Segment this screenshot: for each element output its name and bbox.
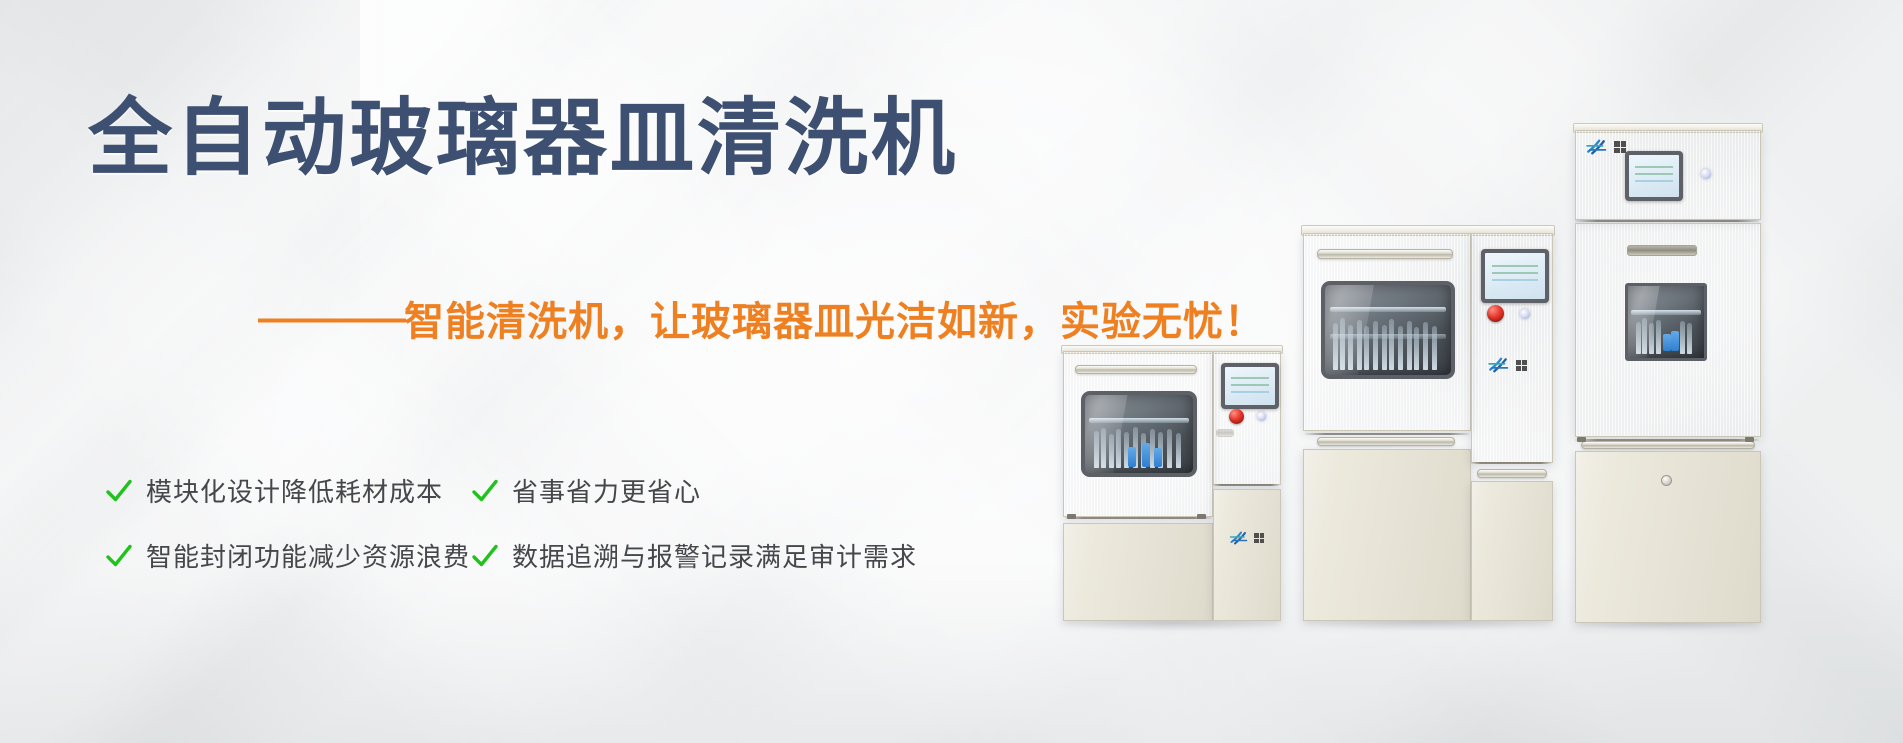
glassware-load	[1325, 285, 1451, 375]
chamber-lower-handle	[1317, 437, 1455, 446]
feature-item: 数据追溯与报警记录满足审计需求	[470, 537, 917, 574]
chamber-viewing-window	[1321, 281, 1455, 379]
check-icon	[104, 541, 134, 571]
door-latch	[1067, 514, 1076, 519]
check-icon	[470, 476, 500, 506]
product-images	[1043, 0, 1903, 743]
check-icon	[470, 541, 500, 571]
feature-label: 省事省力更省心	[512, 472, 701, 509]
brand-grid-icon	[1614, 141, 1626, 153]
glassware-load	[1085, 395, 1193, 473]
product-undercounter-glassware-washer	[1061, 345, 1281, 625]
chamber-viewing-window	[1081, 391, 1197, 477]
service-drawer	[1471, 481, 1553, 621]
caster-wheel	[1077, 623, 1094, 645]
chamber-door-handle	[1317, 249, 1453, 259]
feature-label: 模块化设计降低耗材成本	[146, 472, 443, 509]
brand-mark-icon	[1229, 531, 1251, 545]
feature-item: 省事省力更省心	[470, 472, 701, 509]
caster-wheel	[1727, 623, 1744, 645]
lower-door	[1303, 449, 1471, 621]
control-vent	[1216, 429, 1234, 437]
lower-door	[1063, 523, 1213, 621]
chamber-bottom-seam	[1065, 517, 1211, 519]
chamber-bottom-seam	[1305, 433, 1469, 435]
banner-headline: 全自动玻璃器皿清洗机	[88, 96, 958, 182]
vent-slot	[1627, 245, 1697, 256]
product-tall-column-glassware-washer	[1573, 123, 1761, 625]
brand-mark-icon	[1585, 139, 1611, 155]
control-touchscreen	[1481, 249, 1549, 303]
feature-row: 智能封闭功能减少资源浪费 数据追溯与报警记录满足审计需求	[104, 537, 984, 574]
brand-logo	[1585, 139, 1626, 155]
service-drawer-handle	[1477, 469, 1547, 478]
chamber-door-handle	[1075, 365, 1197, 374]
control-column-seam	[1471, 462, 1551, 464]
door-latch	[1197, 514, 1206, 519]
chamber-viewing-window	[1625, 283, 1707, 361]
status-indicator-light	[1520, 309, 1530, 319]
feature-list: 模块化设计降低耗材成本 省事省力更省心	[104, 472, 984, 574]
status-indicator-light	[1701, 169, 1711, 179]
feature-label: 数据追溯与报警记录满足审计需求	[512, 537, 917, 574]
control-touchscreen	[1625, 151, 1683, 201]
brand-logo	[1229, 531, 1264, 545]
service-door	[1213, 489, 1281, 621]
emergency-stop-button[interactable]	[1487, 305, 1504, 322]
brand-grid-icon	[1516, 360, 1527, 371]
door-knob[interactable]	[1661, 475, 1672, 486]
brand-grid-icon	[1254, 533, 1264, 543]
feature-item: 模块化设计降低耗材成本	[104, 472, 470, 509]
banner-copy: 全自动玻璃器皿清洗机 ———— 智能清洗机，让玻璃器皿光洁如新，实验无忧！ 模块…	[0, 0, 1100, 743]
brand-mark-icon	[1487, 357, 1513, 373]
door-latch	[1745, 437, 1754, 442]
check-icon	[104, 476, 134, 506]
caster-wheel	[1185, 623, 1202, 645]
caster-wheel	[1497, 623, 1514, 645]
control-column-seam	[1213, 484, 1279, 486]
emergency-stop-button[interactable]	[1229, 409, 1244, 424]
feature-label: 智能封闭功能减少资源浪费	[146, 537, 470, 574]
feature-row: 模块化设计降低耗材成本 省事省力更省心	[104, 472, 984, 509]
caster-wheel	[1587, 623, 1604, 645]
chamber-lower-handle	[1581, 441, 1755, 449]
glassware-load	[1628, 286, 1704, 358]
subheadline-dash-prefix: ————	[258, 296, 402, 341]
brand-logo	[1487, 357, 1527, 373]
caster-wheel	[1321, 623, 1338, 645]
product-freestanding-glassware-washer	[1301, 225, 1553, 625]
door-latch	[1577, 437, 1586, 442]
upper-section-seam	[1575, 220, 1759, 222]
control-touchscreen	[1221, 363, 1279, 409]
feature-item: 智能封闭功能减少资源浪费	[104, 537, 470, 574]
product-hero-banner: 全自动玻璃器皿清洗机 ———— 智能清洗机，让玻璃器皿光洁如新，实验无忧！ 模块…	[0, 0, 1903, 743]
status-indicator-light	[1257, 412, 1266, 421]
